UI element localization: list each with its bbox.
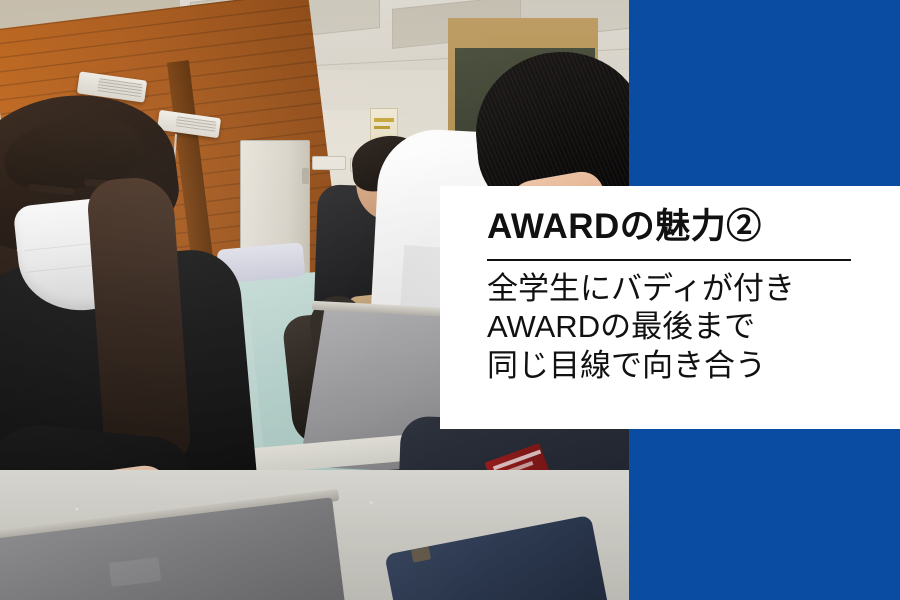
cabinet-handle [302, 168, 309, 184]
title-divider [487, 259, 851, 261]
poster-text [374, 126, 390, 129]
poster-text [374, 118, 394, 122]
wall-outlet-plate [312, 156, 346, 170]
text-card: AWARDの魅力② 全学生にバディが付き AWARDの最後まで 同じ目線で向き合… [440, 186, 900, 429]
card-body-line-2: AWARDの最後まで [487, 308, 900, 346]
card-title: AWARDの魅力② [487, 208, 900, 246]
banner-root: AWARDの魅力② 全学生にバディが付き AWARDの最後まで 同じ目線で向き合… [0, 0, 900, 600]
card-body-line-1: 全学生にバディが付き [487, 270, 900, 308]
card-body-line-3: 同じ目線で向き合う [487, 347, 900, 385]
